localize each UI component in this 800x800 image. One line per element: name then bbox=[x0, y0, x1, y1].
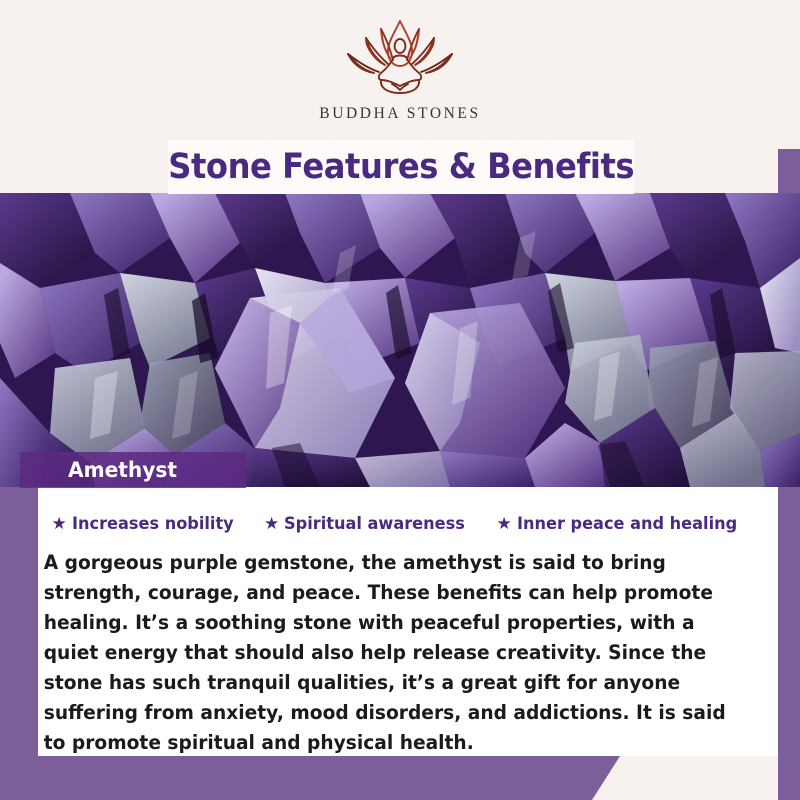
lotus-meditation-icon bbox=[336, 16, 464, 100]
brand-logo: BUDDHA STONES bbox=[319, 16, 480, 123]
benefit-list: ★ Increases nobility ★ Spiritual awarene… bbox=[38, 514, 762, 534]
benefit-item: ★ Increases nobility bbox=[51, 514, 241, 534]
stone-details-panel: ★ Increases nobility ★ Spiritual awarene… bbox=[38, 487, 778, 756]
brand-name: BUDDHA STONES bbox=[319, 105, 480, 123]
stone-name: Amethyst bbox=[68, 458, 177, 482]
star-icon: ★ bbox=[51, 516, 66, 533]
page-title: Stone Features & Benefits bbox=[168, 147, 634, 187]
amethyst-crystal-cluster-graphic bbox=[0, 193, 800, 487]
star-icon: ★ bbox=[264, 516, 279, 533]
amethyst-hero-image bbox=[0, 193, 800, 487]
benefit-label: Increases nobility bbox=[72, 514, 234, 534]
benefit-item: ★ Spiritual awareness bbox=[264, 514, 475, 534]
star-icon: ★ bbox=[497, 516, 512, 533]
page-title-banner: Stone Features & Benefits bbox=[168, 140, 634, 194]
frame-left-border bbox=[0, 487, 38, 800]
stone-description: A gorgeous purple gemstone, the amethyst… bbox=[38, 548, 757, 758]
benefit-label: Spiritual awareness bbox=[284, 514, 465, 534]
benefit-item: ★ Inner peace and healing bbox=[497, 514, 749, 534]
frame-bottom-band bbox=[0, 756, 620, 800]
stone-name-badge: Amethyst bbox=[20, 452, 246, 488]
brand-header: BUDDHA STONES bbox=[0, 0, 800, 149]
benefit-label: Inner peace and healing bbox=[517, 514, 737, 534]
